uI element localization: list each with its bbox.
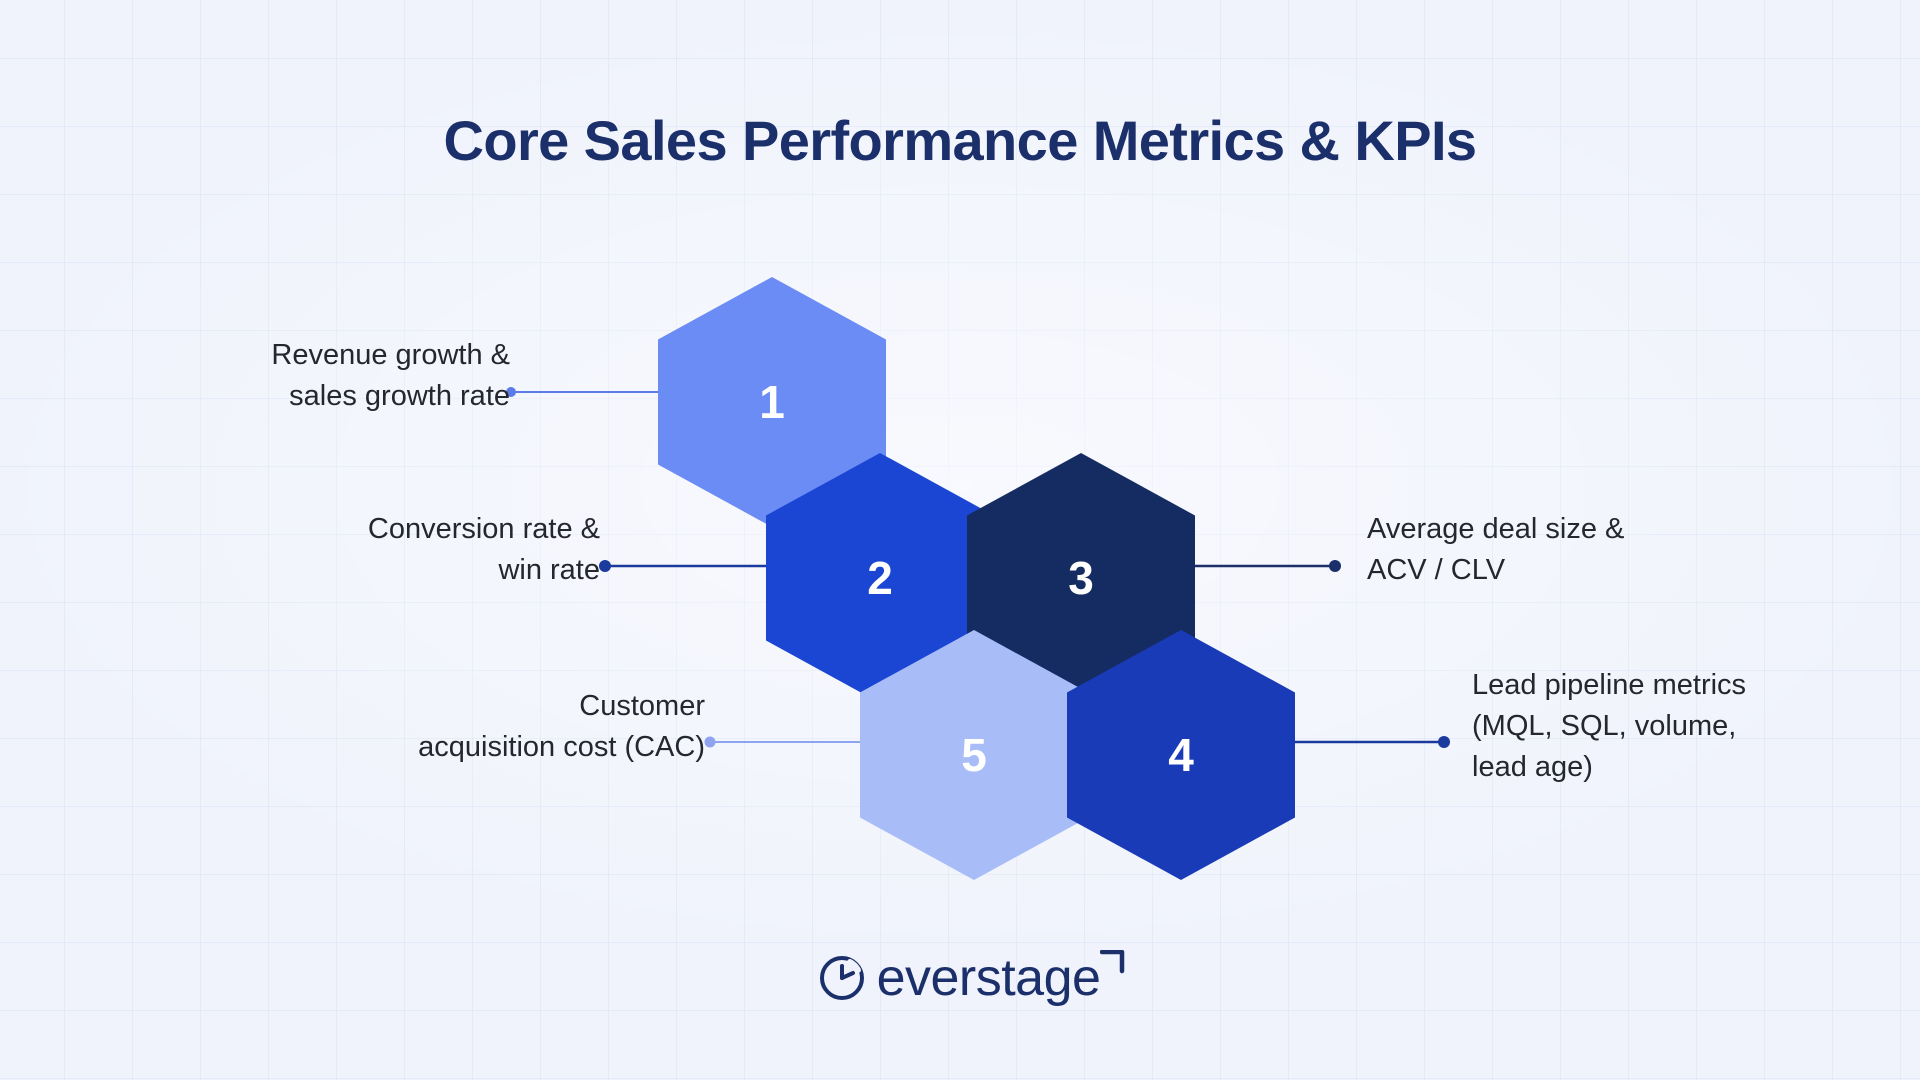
label-node-5-line-1: Customer (250, 686, 705, 727)
brand-name: everstage (877, 948, 1101, 1008)
brand-tick-icon (1100, 950, 1126, 974)
label-node-1-line-2: sales growth rate (60, 376, 510, 417)
hexagon-diagram: 1 2 3 5 4 Revenue growth & sales growth … (0, 0, 1920, 1080)
hexagon-number-3: 3 (1068, 555, 1094, 601)
hexagon-number-2: 2 (867, 555, 893, 601)
label-node-4-line-3: lead age) (1472, 747, 1912, 788)
hexagon-number-1: 1 (759, 379, 785, 425)
label-node-2-line-2: win rate (150, 550, 600, 591)
label-node-1: Revenue growth & sales growth rate (60, 335, 510, 417)
label-node-2: Conversion rate & win rate (150, 509, 600, 591)
brand-name-text: everstage (877, 949, 1101, 1007)
connector-dot-5 (705, 737, 716, 748)
label-node-4-line-1: Lead pipeline metrics (1472, 665, 1912, 706)
label-node-5-line-2: acquisition cost (CAC) (250, 727, 705, 768)
connector-dot-3 (1329, 560, 1341, 572)
label-node-3-line-1: Average deal size & (1367, 509, 1837, 550)
label-node-4: Lead pipeline metrics (MQL, SQL, volume,… (1472, 665, 1912, 789)
label-node-3-line-2: ACV / CLV (1367, 550, 1837, 591)
everstage-circle-icon (820, 956, 864, 1000)
connector-dot-4 (1438, 736, 1450, 748)
label-node-3: Average deal size & ACV / CLV (1367, 509, 1837, 591)
hexagon-number-4: 4 (1168, 732, 1194, 778)
label-node-1-line-1: Revenue growth & (60, 335, 510, 376)
brand-logo: everstage (0, 948, 1920, 1008)
hexagon-number-5: 5 (961, 732, 987, 778)
label-node-2-line-1: Conversion rate & (150, 509, 600, 550)
connector-dot-2 (599, 560, 611, 572)
label-node-5: Customer acquisition cost (CAC) (250, 686, 705, 768)
label-node-4-line-2: (MQL, SQL, volume, (1472, 706, 1912, 747)
